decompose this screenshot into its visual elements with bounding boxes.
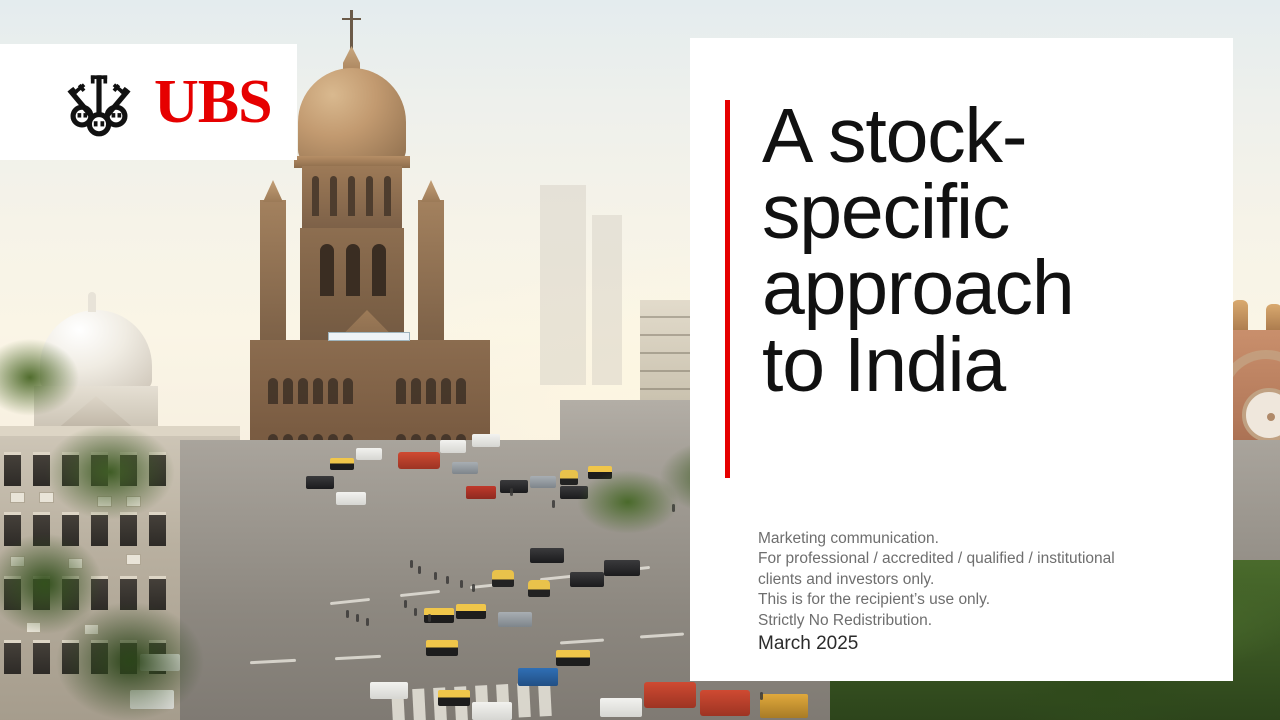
vehicle bbox=[466, 486, 496, 499]
vehicle bbox=[530, 476, 556, 488]
disclaimer-line: Marketing communication. bbox=[758, 529, 1208, 549]
vehicle bbox=[472, 434, 500, 447]
title-line: to India bbox=[762, 327, 1162, 403]
ubs-three-keys-icon bbox=[62, 65, 136, 139]
vehicle bbox=[530, 548, 564, 563]
vehicle bbox=[600, 698, 642, 717]
title-slide: UBS A stock- specific approach to India … bbox=[0, 0, 1280, 720]
disclaimer-line: clients and investors only. bbox=[758, 570, 1208, 590]
vehicle bbox=[500, 480, 528, 493]
vehicle bbox=[700, 690, 750, 716]
vehicle bbox=[370, 682, 408, 699]
red-accent-bar bbox=[725, 100, 730, 478]
vehicle bbox=[452, 462, 478, 474]
ubs-logo: UBS bbox=[0, 44, 297, 160]
vehicle bbox=[528, 580, 550, 597]
vehicle bbox=[426, 640, 458, 656]
title-line: A stock- bbox=[762, 98, 1162, 174]
vehicle bbox=[760, 694, 808, 718]
vehicle bbox=[356, 448, 382, 460]
title-line: approach bbox=[762, 250, 1162, 326]
title-line: specific bbox=[762, 174, 1162, 250]
vehicle bbox=[556, 650, 590, 666]
publication-date: March 2025 bbox=[758, 633, 858, 655]
vehicle bbox=[498, 612, 532, 627]
vehicle bbox=[440, 440, 466, 453]
disclaimer-text: Marketing communication. For professiona… bbox=[758, 529, 1208, 631]
building-dome bbox=[298, 68, 406, 164]
vehicle bbox=[492, 570, 514, 587]
vehicle bbox=[456, 604, 486, 619]
disclaimer-line: This is for the recipient’s use only. bbox=[758, 590, 1208, 610]
disclaimer-line: Strictly No Redistribution. bbox=[758, 611, 1208, 631]
disclaimer-line: For professional / accredited / qualifie… bbox=[758, 549, 1208, 569]
vehicle bbox=[306, 476, 334, 489]
vehicle bbox=[330, 458, 354, 470]
tree-cluster bbox=[0, 300, 230, 720]
title-panel: A stock- specific approach to India Mark… bbox=[690, 38, 1233, 681]
vehicle bbox=[472, 702, 512, 720]
vehicle bbox=[398, 452, 440, 469]
vehicle bbox=[644, 682, 696, 708]
building-nameplate bbox=[328, 332, 410, 341]
vehicle bbox=[336, 492, 366, 505]
vehicle bbox=[518, 668, 558, 686]
distant-tower bbox=[592, 215, 622, 385]
vehicle bbox=[438, 690, 470, 706]
ubs-wordmark: UBS bbox=[154, 71, 272, 133]
page-title: A stock- specific approach to India bbox=[762, 98, 1162, 403]
